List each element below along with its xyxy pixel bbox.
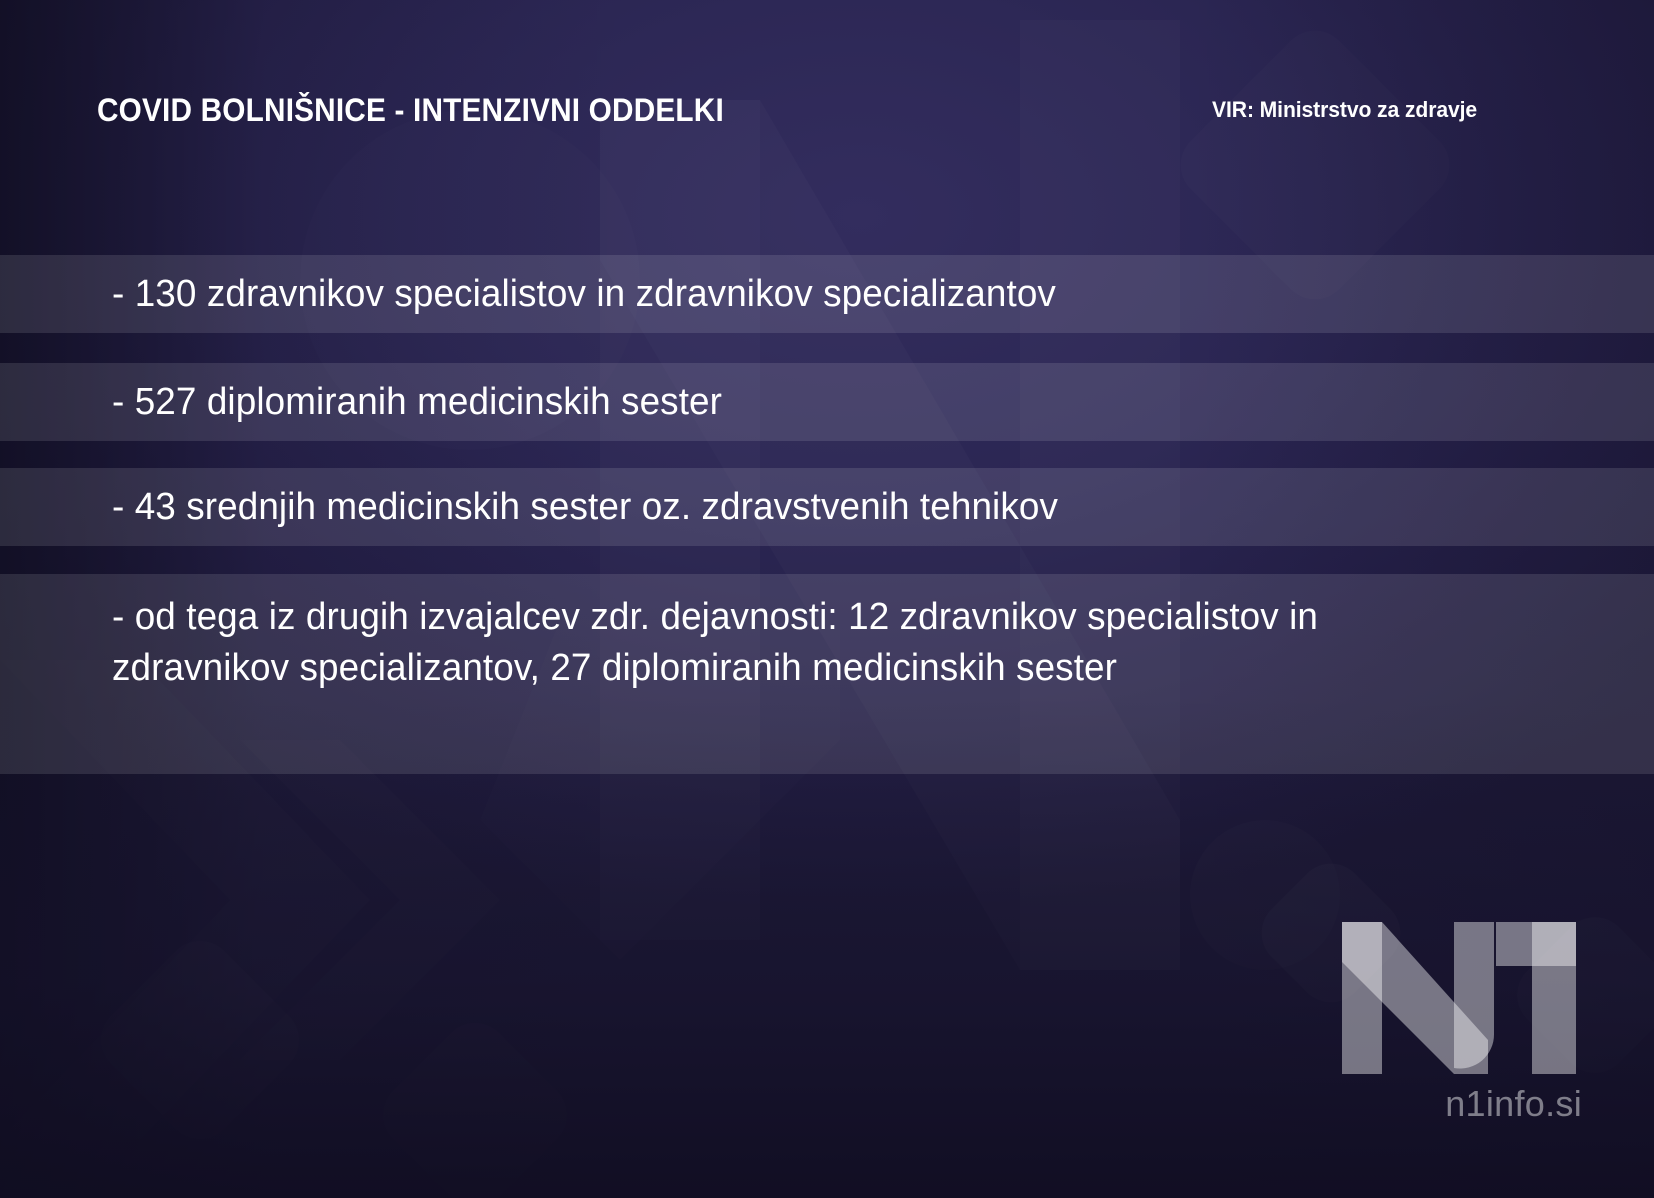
list-item: - 43 srednjih medicinskih sester oz. zdr… xyxy=(0,468,1654,546)
brand-url: n1info.si xyxy=(1262,1082,1582,1126)
list-item: - 527 diplomiranih medicinskih sester xyxy=(0,363,1654,441)
n1-logo-icon xyxy=(1336,922,1582,1074)
list-item-text: - od tega iz drugih izvajalcev zdr. deja… xyxy=(112,592,1491,694)
list-item-text: - 130 zdravnikov specialistov in zdravni… xyxy=(112,269,1056,320)
list-item: - od tega iz drugih izvajalcev zdr. deja… xyxy=(0,574,1654,774)
infographic-card: COVID BOLNIŠNICE - INTENZIVNI ODDELKI VI… xyxy=(0,0,1654,1198)
list-item-text: - 43 srednjih medicinskih sester oz. zdr… xyxy=(112,482,1058,533)
brand-logo: n1info.si xyxy=(1262,922,1582,1126)
list-item: - 130 zdravnikov specialistov in zdravni… xyxy=(0,255,1654,333)
list-item-text: - 527 diplomiranih medicinskih sester xyxy=(112,377,722,428)
